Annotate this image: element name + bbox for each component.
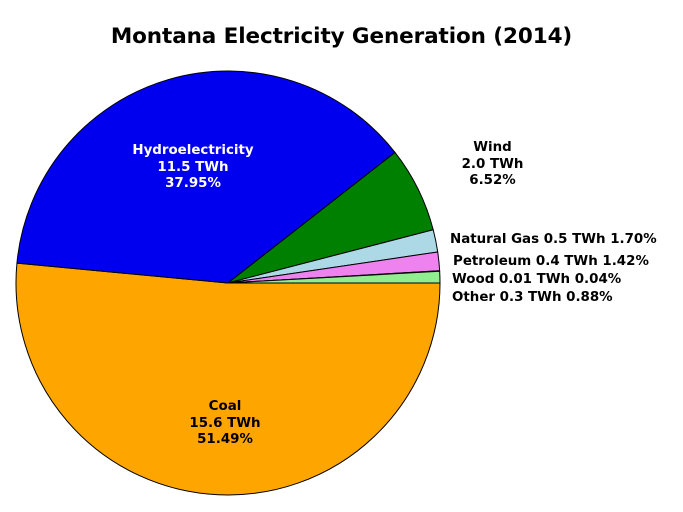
- slice-label-hydroelectricity-value: 11.5 TWh: [68, 160, 318, 177]
- slice-label-other: Other 0.3 TWh 0.88%: [452, 290, 613, 307]
- pie-chart-figure: Montana Electricity Generation (2014) Hy…: [0, 0, 683, 512]
- slice-label-coal-name: Coal: [100, 399, 350, 416]
- slice-label-petroleum: Petroleum 0.4 TWh 1.42%: [453, 254, 649, 271]
- slice-label-wind-value: 2.0 TWh: [415, 157, 570, 174]
- slice-label-wind-percent: 6.52%: [415, 173, 570, 190]
- slice-label-hydroelectricity: Hydroelectricity 11.5 TWh 37.95%: [68, 143, 318, 193]
- slice-label-coal-percent: 51.49%: [100, 432, 350, 449]
- slice-label-wood: Wood 0.01 TWh 0.04%: [452, 272, 621, 289]
- slice-label-coal: Coal 15.6 TWh 51.49%: [100, 399, 350, 449]
- slice-label-hydroelectricity-percent: 37.95%: [68, 176, 318, 193]
- pie-slice-coal[interactable]: [16, 263, 440, 495]
- slice-label-wind-name: Wind: [415, 140, 570, 157]
- slice-label-wind: Wind 2.0 TWh 6.52%: [415, 140, 570, 190]
- slice-label-coal-value: 15.6 TWh: [100, 416, 350, 433]
- slice-label-natural-gas: Natural Gas 0.5 TWh 1.70%: [450, 232, 657, 249]
- slice-label-hydroelectricity-name: Hydroelectricity: [68, 143, 318, 160]
